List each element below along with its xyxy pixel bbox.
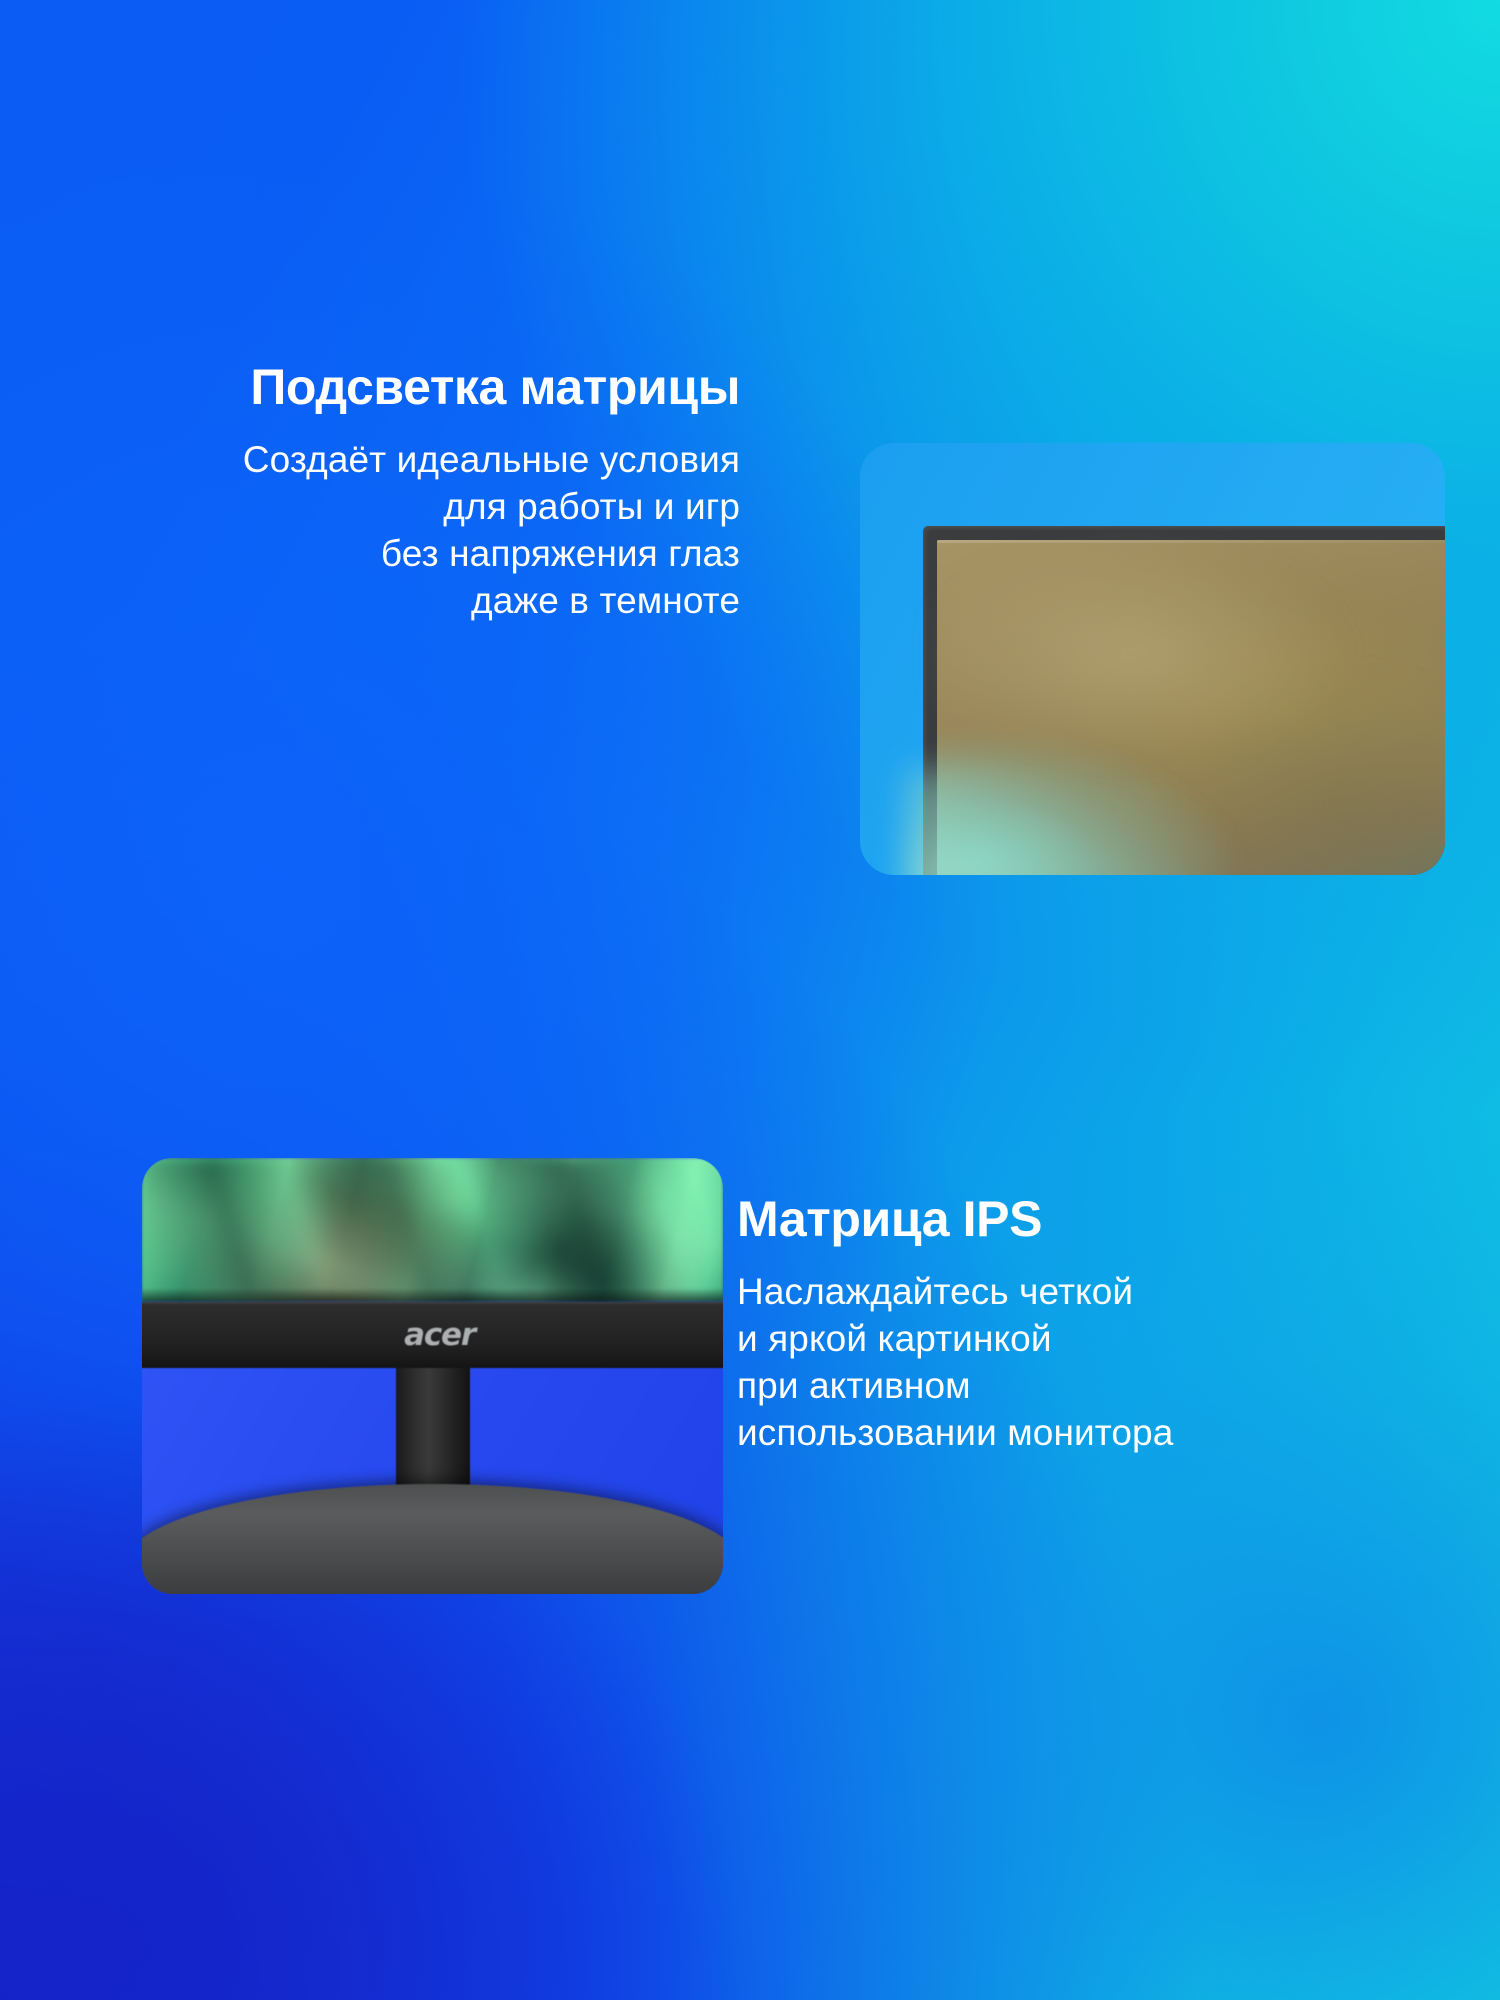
feature-ips-image-card: acer: [142, 1158, 723, 1594]
feature-backlight-image-card: [860, 443, 1445, 875]
feature-backlight-description: Создаёт идеальные условия для работы и и…: [243, 437, 740, 625]
promo-banner: Подсветка матрицы Создаёт идеальные усло…: [0, 0, 1500, 2000]
screen-bottom-shadow: [142, 1288, 723, 1302]
feature-ips-description: Наслаждайтесь четкой и яркой картинкой п…: [737, 1269, 1173, 1457]
monitor-bottom-bezel: acer: [142, 1302, 723, 1368]
feature-backlight-title: Подсветка матрицы: [250, 360, 740, 414]
monitor-bezel-frame: [923, 526, 1445, 875]
screen-aurora-swirl: [142, 1158, 723, 1302]
monitor-screen-panel: [937, 540, 1445, 875]
screen-edge-highlight: [937, 540, 1445, 543]
monitor-stand-area: [142, 1368, 723, 1594]
background-glow-deep-blue: [0, 0, 1500, 2000]
feature-ips-title: Матрица IPS: [737, 1192, 1042, 1246]
monitor-stand-base: [142, 1484, 723, 1594]
ips-screen-content: [142, 1158, 723, 1302]
acer-logo: acer: [404, 1320, 475, 1351]
screen-backlight-bleed: [907, 768, 1222, 875]
